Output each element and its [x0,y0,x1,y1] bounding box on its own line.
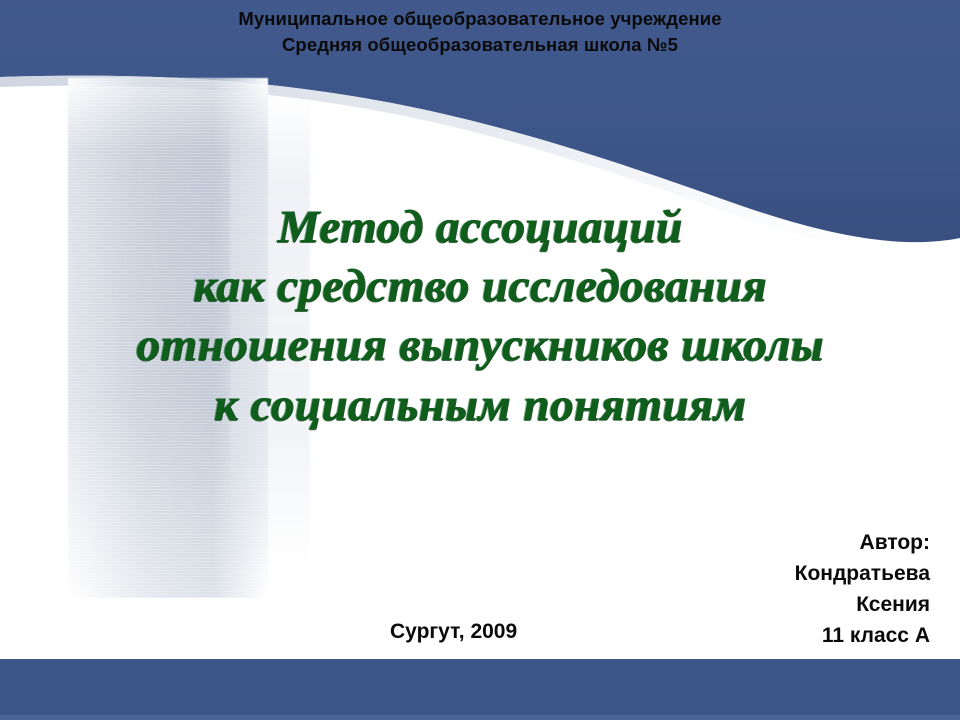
presentation-title-slide: Муниципальное общеобразовательное учрежд… [0,0,960,720]
blue-footer-band [0,659,960,720]
title-line-4: к социальным понятиям [0,376,960,435]
institution-header-line-2: Средняя общеобразовательная школа №5 [0,32,960,58]
place-and-year: Сургут, 2009 [390,620,517,644]
author-surname: Кондратьева [610,559,930,590]
title-line-1: Метод ассоциаций [0,198,960,257]
institution-header: Муниципальное общеобразовательное учрежд… [0,6,960,59]
author-label: Автор: [610,528,930,559]
title-line-2: как средство исследования [0,257,960,316]
author-block: Автор: Кондратьева Ксения 11 класс А [610,528,930,651]
institution-header-line-1: Муниципальное общеобразовательное учрежд… [0,6,960,32]
author-firstname: Ксения [610,590,930,621]
author-class: 11 класс А [610,621,930,652]
presentation-title: Метод ассоциаций как средство исследован… [0,198,960,435]
title-line-3: отношения выпускников школы [0,316,960,375]
